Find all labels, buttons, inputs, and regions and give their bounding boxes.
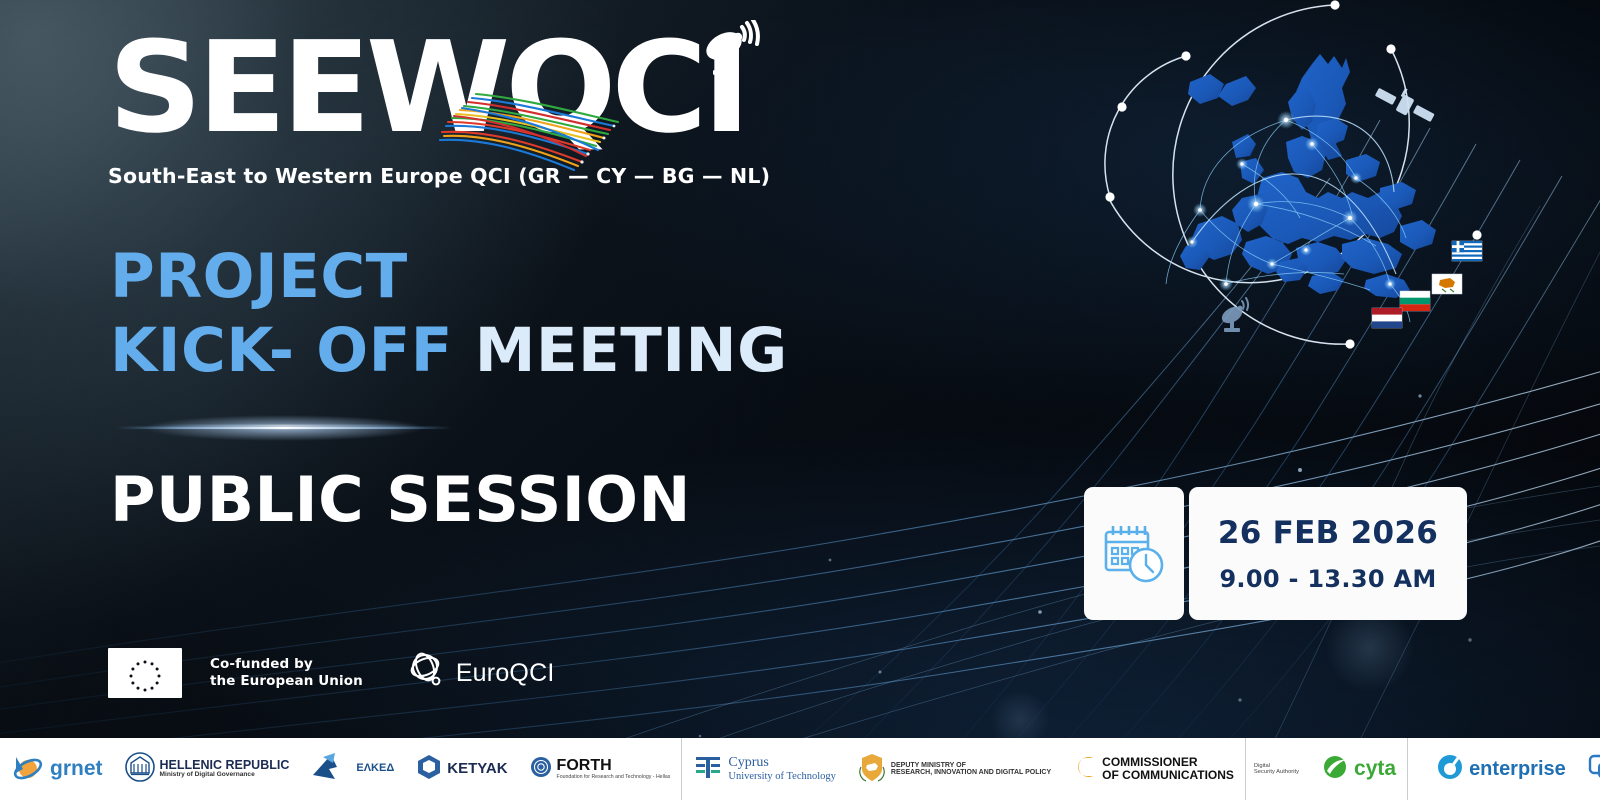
- partner-forth-sub: Foundation for Research and Technology -…: [557, 775, 671, 780]
- partner-hellenic-text: HELLENIC REPUBLIC Ministry of Digital Go…: [160, 759, 290, 779]
- partner-dsa-sub: Security Authority: [1254, 769, 1299, 775]
- partner-correct-consulting[interactable]: Correct Consulting: [1577, 738, 1600, 800]
- partner-elked[interactable]: ΕΛΚΕΔ: [300, 738, 405, 800]
- heading-kickoff-text: KICK- OFF: [110, 315, 475, 386]
- satellite-dish-icon: [700, 20, 772, 80]
- heading-line-project: PROJECT: [110, 240, 870, 314]
- cyta-logo-icon: [1321, 753, 1349, 786]
- europe-network-map-icon: [1050, 0, 1520, 362]
- partner-deputy-ministry[interactable]: DEPUTY MINISTRY OF RESEARCH, INNOVATION …: [847, 738, 1062, 800]
- partner-commissioner-of-communications[interactable]: COMMISSIONER OF COMMUNICATIONS: [1062, 738, 1245, 800]
- eu-funding-text: Co-funded by the European Union: [210, 656, 363, 690]
- event-date: 26 FEB 2026: [1218, 515, 1438, 551]
- partner-cyta-label: cyta: [1354, 758, 1396, 780]
- partner-deputy-ministry-sub: RESEARCH, INNOVATION AND DIGITAL POLICY: [891, 769, 1051, 776]
- partner-deputy-ministry-label: DEPUTY MINISTRY OF: [891, 762, 1051, 769]
- calendar-clock-icon: [1084, 487, 1184, 620]
- partner-enterprise[interactable]: enterprise: [1408, 738, 1577, 800]
- heading-line-kickoff-meeting: KICK- OFF MEETING: [110, 314, 870, 388]
- partner-cyta[interactable]: cyta: [1310, 738, 1407, 800]
- partner-cut-sub: University of Technology: [728, 771, 836, 782]
- event-date-card: 26 FEB 2026 9.00 - 13.30 AM: [1084, 487, 1467, 620]
- hellenic-republic-crest-icon: [125, 751, 155, 788]
- partner-forth[interactable]: FORTH Foundation for Research and Techno…: [519, 738, 682, 800]
- grnet-logo-icon: [11, 751, 45, 788]
- satellite-icon: [1375, 88, 1435, 122]
- event-date-text: 26 FEB 2026 9.00 - 13.30 AM: [1189, 487, 1467, 620]
- partner-group-bg: enterprise Correct Consulting: [1408, 738, 1600, 800]
- eu-funding-line2: the European Union: [210, 673, 363, 690]
- partner-ketyak[interactable]: KETYAK: [405, 738, 518, 800]
- eu-flag-icon: [108, 648, 182, 698]
- session-title: PUBLIC SESSION: [110, 462, 691, 538]
- partner-hellenic-sub: Ministry of Digital Governance: [160, 772, 290, 779]
- partner-cut-label: Cyprus: [728, 756, 836, 771]
- partner-group-cy: Cyprus University of Technology: [682, 738, 1408, 800]
- partner-group-gr: grnet HELLENIC REPUBLIC Ministry o: [0, 738, 682, 800]
- partner-cyprus-university-of-technology[interactable]: Cyprus University of Technology: [682, 738, 847, 800]
- heading-block: PROJECT KICK- OFF MEETING: [110, 240, 870, 388]
- partner-commissioner-text: COMMISSIONER OF COMMUNICATIONS: [1102, 756, 1234, 781]
- euroqci-logo: EuroQCI: [405, 649, 555, 698]
- partner-dsa-text: Digital Security Authority: [1254, 763, 1299, 775]
- partner-enterprise-label: enterprise: [1469, 759, 1566, 780]
- netherlands-flag-icon: [1372, 308, 1402, 328]
- partner-logos-strip: grnet HELLENIC REPUBLIC Ministry o: [0, 738, 1600, 800]
- partner-elked-label: ΕΛΚΕΔ: [356, 763, 394, 775]
- commissioner-logo-icon: [1073, 753, 1097, 786]
- light-streak-divider: [108, 408, 460, 448]
- cyprus-flag-icon: [1432, 274, 1462, 294]
- event-banner: SEEWQCI: [0, 0, 1600, 800]
- partner-forth-text: FORTH Foundation for Research and Techno…: [557, 758, 671, 780]
- partner-grnet-label: grnet: [50, 758, 103, 780]
- cyprus-coat-of-arms-icon: [858, 751, 886, 788]
- ground-station-dish-icon: [1219, 298, 1248, 332]
- greece-flag-icon: [1452, 241, 1482, 261]
- euroqci-label: EuroQCI: [456, 659, 555, 688]
- wordmark-text: SEEWQCI: [108, 18, 774, 158]
- partner-cut-text: Cyprus University of Technology: [728, 756, 836, 782]
- partner-hellenic-republic[interactable]: HELLENIC REPUBLIC Ministry of Digital Go…: [114, 738, 301, 800]
- correct-consulting-icon: [1588, 753, 1600, 786]
- partner-ketyak-label: KETYAK: [447, 761, 507, 777]
- partner-deputy-ministry-text: DEPUTY MINISTRY OF RESEARCH, INNOVATION …: [891, 762, 1051, 777]
- partner-grnet[interactable]: grnet: [0, 738, 114, 800]
- forth-logo-icon: [530, 756, 552, 783]
- event-time: 9.00 - 13.30 AM: [1219, 565, 1436, 593]
- eu-funding-line1: Co-funded by: [210, 656, 363, 673]
- partner-commissioner-sub: OF COMMUNICATIONS: [1102, 769, 1234, 782]
- wordmark-container: SEEWQCI: [108, 18, 748, 158]
- heading-meeting-text: MEETING: [475, 315, 788, 386]
- brand-logo: SEEWQCI: [108, 18, 788, 188]
- cut-logo-icon: [693, 752, 723, 787]
- brand-tagline: South-East to Western Europe QCI (GR — C…: [108, 164, 788, 188]
- enterprise-logo-icon: [1436, 753, 1464, 786]
- funding-logos: Co-funded by the European Union EuroQCI: [108, 648, 554, 698]
- elked-logo-icon: [311, 751, 351, 788]
- partner-forth-label: FORTH: [557, 758, 671, 775]
- ketyak-logo-icon: [416, 753, 442, 786]
- euroqci-logo-icon: [405, 649, 449, 698]
- bulgaria-flag-icon: [1400, 291, 1430, 311]
- partner-digital-security-authority[interactable]: Digital Security Authority: [1245, 738, 1310, 800]
